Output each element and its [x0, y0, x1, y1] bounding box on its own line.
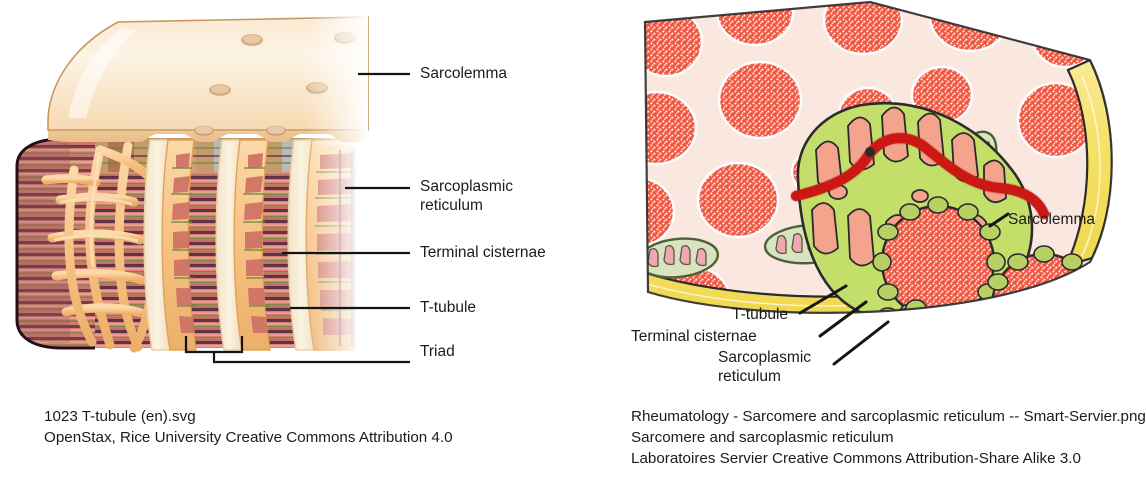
terminal-cisternae-ring-3 — [852, 300, 980, 398]
sarcolemma-sheet — [48, 10, 368, 145]
caption-right: Rheumatology - Sarcomere and sarcoplasmi… — [631, 406, 1146, 469]
fade-mask — [300, 125, 362, 360]
label-sarcolemma-right: Sarcolemma — [1008, 210, 1095, 229]
label-sarcoplasmic-reticulum: Sarcoplasmic reticulum — [420, 177, 513, 215]
leader-sr-right — [834, 322, 888, 364]
label-terminal-cisternae-right: Terminal cisternae — [631, 327, 757, 346]
label-t-tubule: T-tubule — [420, 298, 476, 317]
caption-left: 1023 T-tubule (en).svg OpenStax, Rice Un… — [44, 406, 584, 448]
label-triad: Triad — [420, 342, 455, 361]
label-sarcolemma: Sarcolemma — [420, 64, 507, 83]
t-tubule-node — [865, 147, 875, 157]
label-terminal-cisternae: Terminal cisternae — [420, 243, 546, 262]
label-sarcoplasmic-reticulum-right: Sarcoplasmic reticulum — [718, 348, 811, 386]
label-t-tubule-right: T-tubule — [732, 305, 788, 324]
right-figure: Sarcolemma T-tubule Terminal cisternae S… — [620, 0, 1146, 400]
myofibril-with-cisternae-3 — [852, 300, 980, 400]
left-figure: Sarcolemma Sarcoplasmic reticulum Termin… — [0, 0, 600, 400]
